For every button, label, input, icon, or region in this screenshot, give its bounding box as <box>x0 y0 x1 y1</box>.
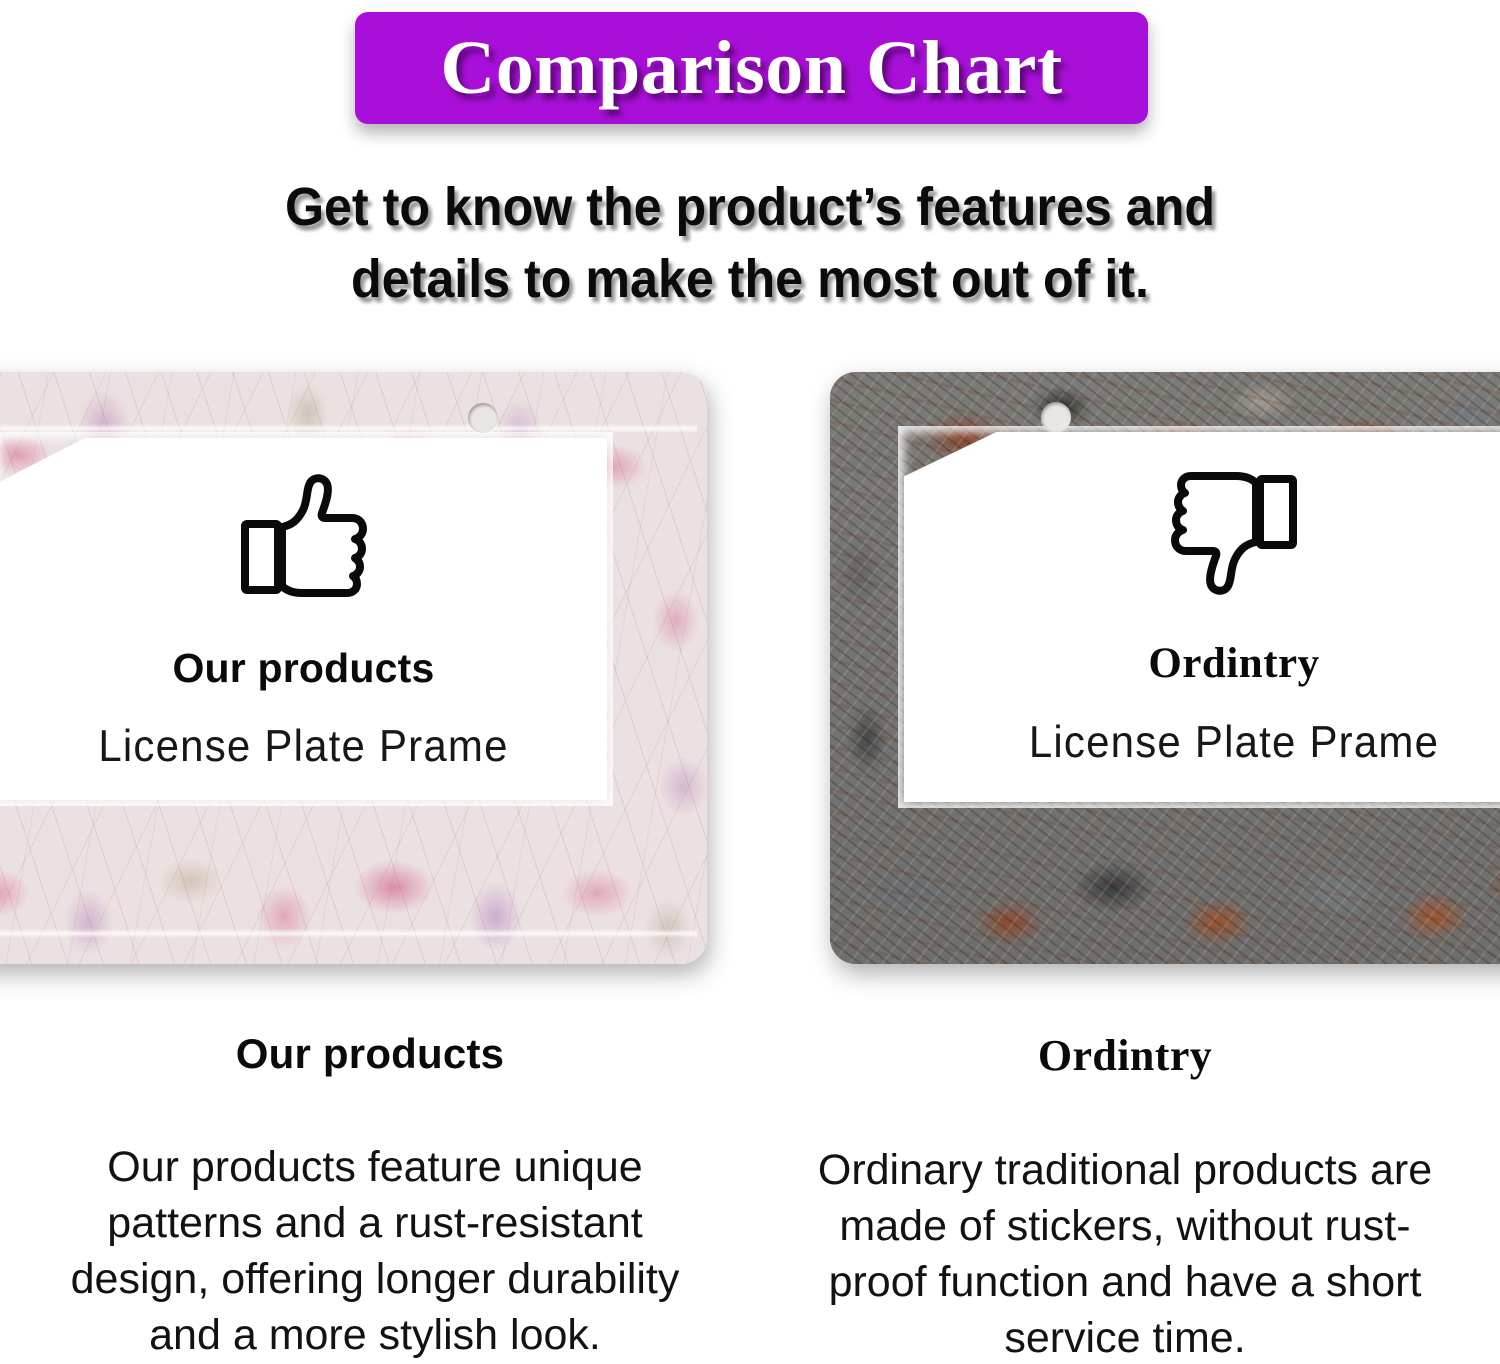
title-banner: Comparison Chart <box>355 12 1148 124</box>
our-product-description: Our products feature unique patterns and… <box>55 1140 695 1364</box>
our-product-plate-content: Our products License Plate Prame <box>0 472 607 770</box>
ordinary-product-plate-content: Ordintry License Plate Prame <box>904 466 1500 766</box>
our-product-heading: Our products <box>236 1030 504 1078</box>
ordinary-product-column: Ordintry Ordinary traditional products a… <box>750 1030 1500 1364</box>
subtitle-line-1: Get to know the product’s features and <box>53 172 1448 244</box>
plate-product-name: Ordintry <box>1148 639 1319 688</box>
ordinary-product-heading: Ordintry <box>1038 1030 1212 1081</box>
mounting-hole <box>1041 402 1071 432</box>
comparison-description-row: Our products Our products feature unique… <box>0 1030 1500 1364</box>
our-product-column: Our products Our products feature unique… <box>0 1030 750 1364</box>
page-title: Comparison Chart <box>440 30 1062 106</box>
title-banner-background: Comparison Chart <box>355 12 1148 124</box>
subtitle-line-2: details to make the most out of it. <box>53 244 1448 316</box>
product-images-row: Our products License Plate Prame Ordintr… <box>0 372 1500 964</box>
our-product-frame-image: Our products License Plate Prame <box>0 372 707 964</box>
plate-product-subtitle: License Plate Prame <box>1029 717 1439 768</box>
thumbs-up-icon <box>240 472 368 603</box>
ordinary-product-description: Ordinary traditional products are made o… <box>805 1143 1445 1364</box>
page-subtitle: Get to know the product’s features and d… <box>53 172 1448 316</box>
ordinary-product-frame-image: Ordintry License Plate Prame <box>830 372 1500 964</box>
plate-product-name: Our products <box>172 645 434 692</box>
plate-product-subtitle: License Plate Prame <box>98 721 508 772</box>
mounting-hole <box>468 403 498 433</box>
thumbs-down-icon <box>1170 466 1298 597</box>
